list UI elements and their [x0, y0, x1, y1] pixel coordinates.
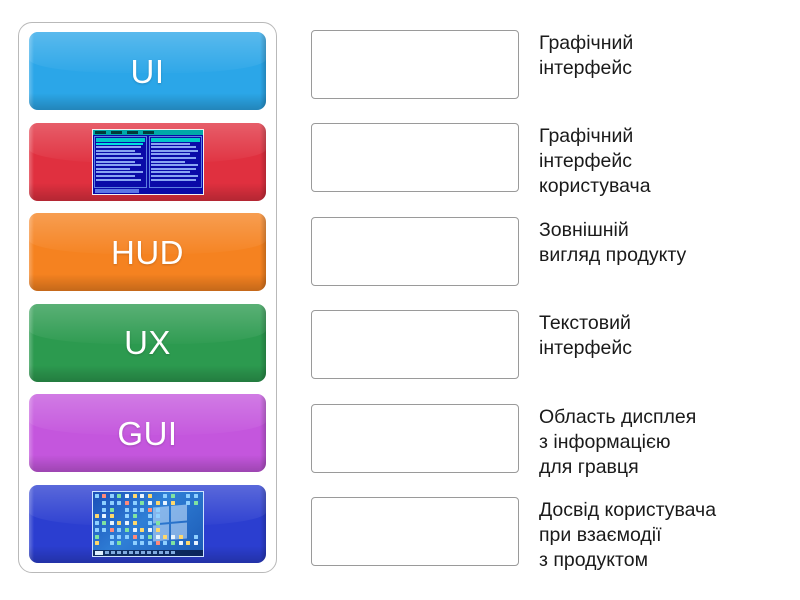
- draggable-tile-text-interface-image[interactable]: [29, 123, 266, 201]
- dropzone-3[interactable]: [311, 217, 519, 286]
- dropzone-5[interactable]: [311, 404, 519, 473]
- draggable-tile-desktop-image[interactable]: [29, 485, 266, 563]
- answer-row: Текстовий інтерфейс: [311, 310, 781, 388]
- tile-left-highlight: [29, 32, 34, 110]
- tile-left-highlight: [29, 304, 34, 382]
- dropzone-2[interactable]: [311, 123, 519, 192]
- answer-row: Графічний інтерфейс користувача: [311, 123, 781, 201]
- draggable-tile-ux[interactable]: UX: [29, 304, 266, 382]
- tui-command-line: [95, 189, 139, 193]
- tile-bottom-shade: [29, 93, 266, 110]
- tile-label: UI: [131, 55, 165, 88]
- tile-left-highlight: [29, 394, 34, 472]
- tile-label: UX: [124, 326, 171, 359]
- tile-bottom-shade: [29, 365, 266, 382]
- answer-row: Графічний інтерфейс: [311, 30, 781, 108]
- answer-text-6: Досвід користувача при взаємодії з проду…: [539, 497, 716, 573]
- windows-desktop-screenshot: [92, 491, 204, 557]
- desktop-icon-grid: [95, 494, 201, 547]
- start-button-icon: [95, 551, 103, 555]
- dropzone-4[interactable]: [311, 310, 519, 379]
- answer-row: Зовнішній вигляд продукту: [311, 217, 781, 295]
- answer-text-4: Текстовий інтерфейс: [539, 310, 632, 361]
- draggable-tile-hud[interactable]: HUD: [29, 213, 266, 291]
- answer-text-2: Графічний інтерфейс користувача: [539, 123, 651, 199]
- tile-left-highlight: [29, 485, 34, 563]
- dropzone-1[interactable]: [311, 30, 519, 99]
- answer-text-3: Зовнішній вигляд продукту: [539, 217, 686, 268]
- match-up-activity: UI: [0, 0, 800, 600]
- answers-column: Графічний інтерфейс Графічний інтерфейс …: [311, 30, 781, 575]
- draggable-tiles-panel: UI: [18, 22, 277, 573]
- tile-label: HUD: [111, 236, 184, 269]
- taskbar: [93, 550, 203, 556]
- tile-label: GUI: [117, 417, 177, 450]
- answer-row: Область дисплея з інформацією для гравця: [311, 404, 781, 482]
- answer-text-5: Область дисплея з інформацією для гравця: [539, 404, 696, 480]
- answer-row: Досвід користувача при взаємодії з проду…: [311, 497, 781, 575]
- tui-left-pane: [94, 136, 147, 188]
- tile-right-shadow: [260, 304, 266, 382]
- tile-right-shadow: [260, 123, 266, 201]
- desktop-area: [93, 492, 203, 550]
- tui-file-panes: [93, 135, 203, 189]
- tile-right-shadow: [260, 394, 266, 472]
- tile-bottom-shade: [29, 455, 266, 472]
- tile-right-shadow: [260, 213, 266, 291]
- dropzone-6[interactable]: [311, 497, 519, 566]
- tile-right-shadow: [260, 32, 266, 110]
- draggable-tile-ui[interactable]: UI: [29, 32, 266, 110]
- tile-right-shadow: [260, 485, 266, 563]
- tui-right-pane: [149, 136, 202, 188]
- tile-left-highlight: [29, 213, 34, 291]
- text-user-interface-screenshot: [92, 129, 204, 195]
- draggable-tile-gui[interactable]: GUI: [29, 394, 266, 472]
- tile-bottom-shade: [29, 274, 266, 291]
- tile-left-highlight: [29, 123, 34, 201]
- answer-text-1: Графічний інтерфейс: [539, 30, 633, 81]
